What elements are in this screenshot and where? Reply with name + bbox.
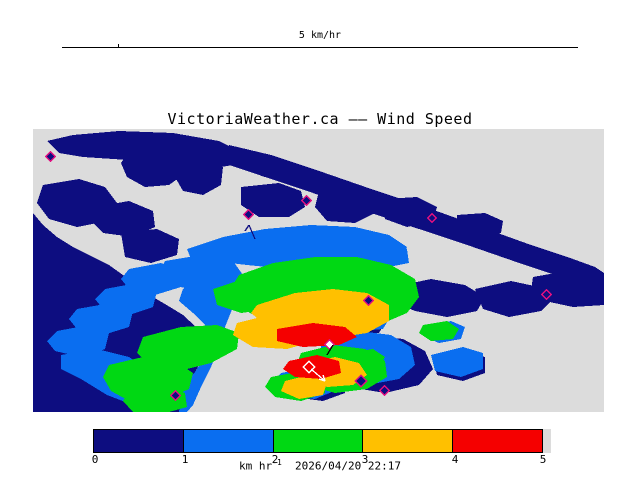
colorbar-legend: 0 1 2 3 4 5 <box>93 429 551 453</box>
colorbar-band-2-3 <box>274 430 364 452</box>
colorbar-units-exponent: -1 <box>272 458 282 467</box>
wind-vector-scale-line <box>62 47 578 48</box>
wind-speed-contour-map[interactable] <box>33 129 604 412</box>
map-canvas <box>33 129 604 412</box>
colorbar-track <box>93 429 543 453</box>
colorbar-band-3-4 <box>363 430 453 452</box>
wind-vector-scale: 5 km/hr <box>0 30 640 60</box>
timestamp: 2026/04/20 22:17 <box>295 460 401 473</box>
page-title: VictoriaWeather.ca —— Wind Speed <box>0 110 640 128</box>
wind-vector-scale-tick <box>118 44 119 48</box>
colorbar-units: km hr <box>239 460 272 473</box>
colorbar-spacer <box>282 460 295 473</box>
colorbar-band-4-5 <box>453 430 542 452</box>
wind-speed-map-page: 5 km/hr VictoriaWeather.ca —— Wind Speed <box>0 0 640 480</box>
colorbar-units-and-timestamp: km hr-1 2026/04/20 22:17 <box>0 458 640 473</box>
colorbar-band-1-2 <box>184 430 274 452</box>
wind-vector-scale-label: 5 km/hr <box>0 30 640 42</box>
colorbar-band-0-1 <box>94 430 184 452</box>
colorbar-overflow <box>543 429 551 453</box>
